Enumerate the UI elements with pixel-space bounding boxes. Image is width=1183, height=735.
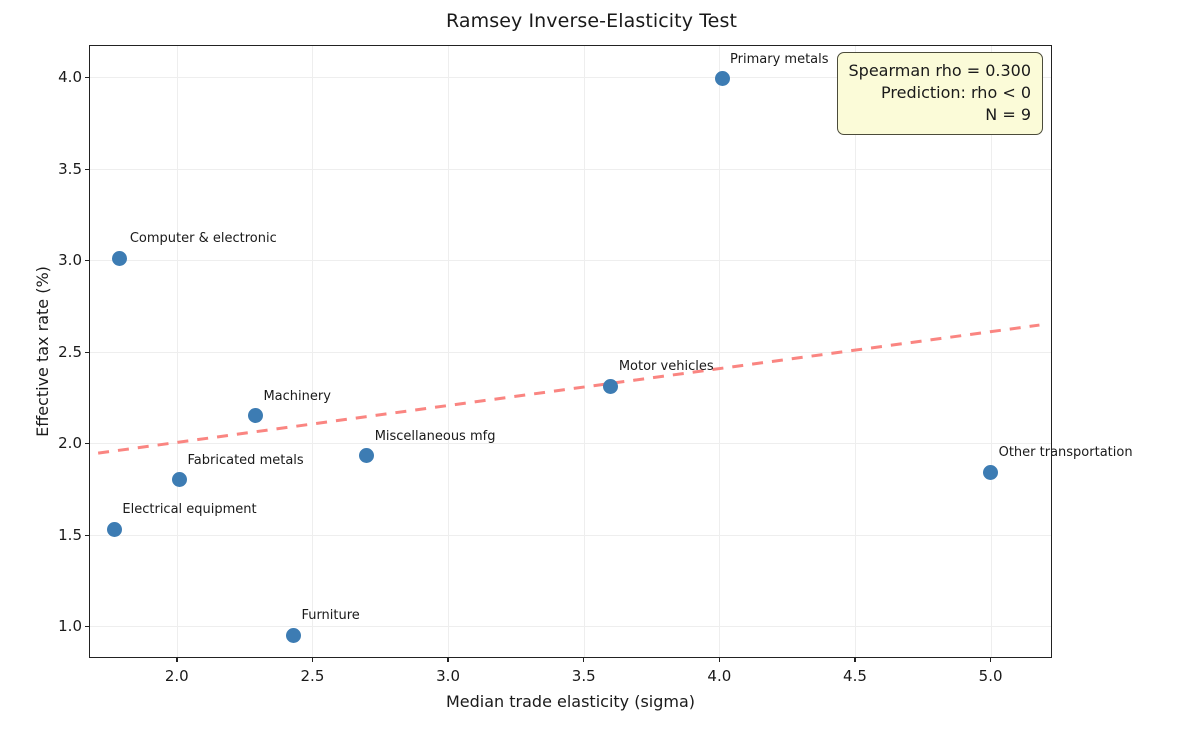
gridline-vertical — [177, 46, 178, 657]
data-point[interactable] — [112, 251, 127, 266]
y-tick-label: 1.5 — [58, 526, 82, 544]
sample-size-text: N = 9 — [849, 104, 1031, 126]
x-tick-mark — [990, 657, 991, 662]
gridline-vertical — [991, 46, 992, 657]
y-tick-label: 3.5 — [58, 160, 82, 178]
data-point[interactable] — [715, 71, 730, 86]
x-tick-label: 5.0 — [979, 667, 1003, 685]
x-tick-mark — [719, 657, 720, 662]
x-tick-mark — [447, 657, 448, 662]
stats-annotation-box: Spearman rho = 0.300 Prediction: rho < 0… — [837, 52, 1043, 135]
gridline-vertical — [584, 46, 585, 657]
gridline-horizontal — [90, 443, 1051, 444]
data-point[interactable] — [359, 448, 374, 463]
y-tick-label: 2.0 — [58, 434, 82, 452]
x-tick-label: 2.0 — [165, 667, 189, 685]
data-point-label: Other transportation — [999, 445, 1133, 460]
x-tick-mark — [312, 657, 313, 662]
x-tick-mark — [176, 657, 177, 662]
plot-area: Electrical equipmentComputer & electroni… — [89, 45, 1052, 658]
x-tick-label: 3.5 — [572, 667, 596, 685]
y-tick-mark — [85, 626, 90, 627]
data-point-label: Fabricated metals — [188, 453, 304, 468]
gridline-horizontal — [90, 260, 1051, 261]
x-tick-mark — [854, 657, 855, 662]
y-tick-label: 2.5 — [58, 343, 82, 361]
data-point-label: Furniture — [301, 608, 359, 623]
x-tick-label: 2.5 — [301, 667, 325, 685]
data-point-label: Miscellaneous mfg — [375, 429, 496, 444]
y-tick-mark — [85, 169, 90, 170]
data-point-label: Computer & electronic — [130, 231, 277, 246]
gridline-horizontal — [90, 626, 1051, 627]
y-axis-label: Effective tax rate (%) — [28, 45, 58, 658]
gridline-vertical — [312, 46, 313, 657]
gridline-vertical — [448, 46, 449, 657]
data-point[interactable] — [172, 472, 187, 487]
x-tick-mark — [583, 657, 584, 662]
gridline-vertical — [855, 46, 856, 657]
x-tick-label: 3.0 — [436, 667, 460, 685]
prediction-text: Prediction: rho < 0 — [849, 82, 1031, 104]
y-tick-label: 1.0 — [58, 617, 82, 635]
gridline-horizontal — [90, 535, 1051, 536]
data-point[interactable] — [603, 379, 618, 394]
y-tick-mark — [85, 77, 90, 78]
y-tick-mark — [85, 352, 90, 353]
y-tick-label: 3.0 — [58, 251, 82, 269]
data-point[interactable] — [248, 408, 263, 423]
x-tick-label: 4.5 — [843, 667, 867, 685]
chart-figure: Ramsey Inverse-Elasticity Test Electrica… — [0, 0, 1183, 735]
y-tick-label: 4.0 — [58, 68, 82, 86]
data-point-label: Electrical equipment — [122, 502, 256, 517]
spearman-rho-text: Spearman rho = 0.300 — [849, 60, 1031, 82]
x-tick-label: 4.0 — [707, 667, 731, 685]
page-title: Ramsey Inverse-Elasticity Test — [0, 10, 1183, 32]
gridline-horizontal — [90, 169, 1051, 170]
data-point[interactable] — [983, 465, 998, 480]
data-point[interactable] — [286, 628, 301, 643]
y-tick-mark — [85, 260, 90, 261]
data-point-label: Primary metals — [730, 52, 828, 67]
x-axis-label: Median trade elasticity (sigma) — [89, 692, 1052, 711]
y-tick-mark — [85, 443, 90, 444]
data-point[interactable] — [107, 522, 122, 537]
data-point-label: Motor vehicles — [619, 359, 714, 374]
y-tick-mark — [85, 535, 90, 536]
data-point-label: Machinery — [263, 389, 330, 404]
gridline-vertical — [719, 46, 720, 657]
gridline-horizontal — [90, 352, 1051, 353]
